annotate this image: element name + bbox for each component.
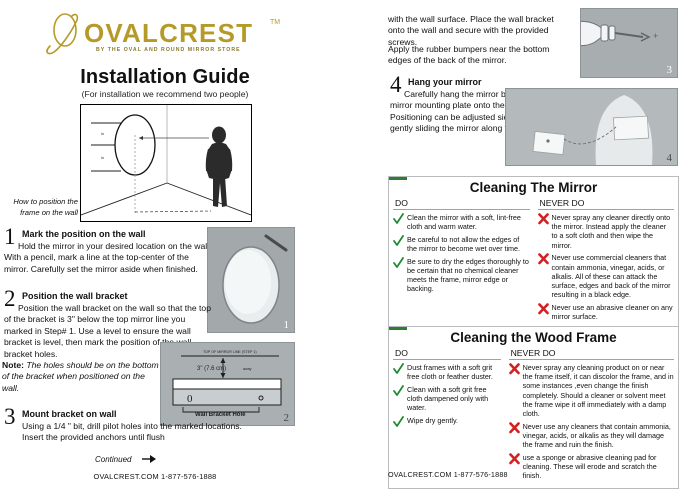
room-diagram-caption: How to position the frame on the wall — [6, 196, 78, 218]
cleaning-mirror-do-column: DO Clean the mirror with a soft, lint-fr… — [389, 198, 534, 329]
photo-3-number: 3 — [667, 64, 673, 76]
cleaning-mirror-columns: DO Clean the mirror with a soft, lint-fr… — [389, 198, 678, 329]
room-positioning-diagram: in in — [80, 104, 252, 222]
step-3-body: Using a 1/4 " bit, drill pilot holes int… — [22, 421, 244, 444]
hang-mirror-photo-svg — [506, 89, 677, 165]
cleaning-mirror-title: Cleaning The Mirror — [389, 177, 678, 198]
tip-text: Be sure to dry the edges thoroughly to b… — [407, 257, 530, 294]
cross-icon — [538, 213, 549, 225]
cross-icon — [538, 253, 549, 265]
arrow-right-icon — [142, 454, 156, 464]
page-title: Installation Guide — [0, 66, 330, 89]
tip-item: Never use any cleaners that contain ammo… — [509, 422, 674, 450]
tip-item: Be careful to not allow the edges of the… — [393, 235, 530, 253]
mirror-photo-svg — [208, 228, 294, 332]
installation-guide-page: OVALCREST TM BY THE OVAL AND ROUND MIRRO… — [0, 0, 679, 489]
panel-accent-bar — [389, 177, 407, 180]
check-icon — [393, 363, 404, 375]
tip-text: Wipe dry gently. — [407, 416, 458, 428]
bracket-top-label-text: TOP OF MIRROR LINE (STEP 1) — [203, 350, 257, 354]
photo-1-number: 1 — [284, 319, 290, 331]
caption-line-1: How to position the — [13, 197, 78, 206]
panel-accent-bar — [389, 327, 407, 330]
step-1-body: Hold the mirror in your desired location… — [4, 241, 212, 275]
step-1-number: 1 — [4, 226, 16, 248]
brand-logo: OVALCREST TM BY THE OVAL AND ROUND MIRRO… — [42, 8, 292, 60]
tip-item: Never spray any cleaner directly onto th… — [538, 213, 675, 250]
tip-text: Clean with a soft grit free cloth dampen… — [407, 385, 501, 413]
cross-icon — [538, 303, 549, 315]
svg-text:0: 0 — [187, 393, 193, 405]
step-2-heading: Position the wall bracket — [22, 290, 214, 302]
tip-text: Never spray any cleaning product on or n… — [523, 363, 674, 418]
tip-text: use a sponge or abrasive cleaning pad fo… — [523, 453, 674, 481]
tip-item: use a sponge or abrasive cleaning pad fo… — [509, 453, 674, 481]
cross-icon — [509, 363, 520, 375]
brand-name: OVALCREST — [84, 18, 253, 49]
right-paragraph-2: Apply the rubber bumpers near the bottom… — [388, 44, 568, 67]
svg-text:in: in — [101, 155, 104, 160]
cleaning-wood-do-header: DO — [393, 348, 501, 360]
photo-step-3: + 3 — [580, 8, 678, 78]
step-3-heading: Mount bracket on wall — [22, 408, 242, 420]
cleaning-wood-do-column: DO Dust frames with a soft grit free clo… — [389, 348, 505, 488]
drill-photo-svg: + — [581, 9, 677, 77]
photo-step-1: 1 — [207, 227, 295, 333]
step-1: 1 Mark the position on the wall Hold the… — [2, 228, 212, 275]
step-3-number: 3 — [4, 406, 16, 428]
step-2-note: Note: The holes should be on the bottom … — [2, 360, 162, 394]
tip-item: Never use commercial cleaners that conta… — [538, 253, 675, 299]
step-2-note-label: Note: — [2, 360, 24, 370]
tip-text: Be careful to not allow the edges of the… — [407, 235, 530, 253]
caption-line-2: frame on the wall — [20, 208, 78, 217]
tip-item: Clean the mirror with a soft, lint-free … — [393, 213, 530, 231]
tip-text: Never spray any cleaner directly onto th… — [552, 213, 675, 250]
person-silhouette — [206, 127, 233, 208]
photo-step-4: 4 — [505, 88, 678, 166]
bracket-measure-note-text: away — [243, 367, 252, 371]
check-icon — [393, 213, 404, 225]
svg-text:+: + — [653, 31, 658, 41]
tip-text: Never use commercial cleaners that conta… — [552, 253, 675, 299]
step-4-number: 4 — [390, 74, 402, 96]
brand-trademark: TM — [270, 19, 280, 26]
brand-tagline: BY THE OVAL AND ROUND MIRROR STORE — [96, 47, 241, 53]
step-1-heading: Mark the position on the wall — [22, 228, 212, 240]
cleaning-wood-never-header: NEVER DO — [509, 348, 674, 360]
footer-left: OVALCREST.COM 1-877-576-1888 — [55, 472, 255, 481]
photo-2-number: 2 — [284, 412, 290, 424]
bracket-measure-text: 3" (7.6 cm) — [197, 366, 226, 372]
cleaning-wood-frame-panel: Cleaning the Wood Frame DO Dust frames w… — [388, 326, 679, 489]
photo-4-number: 4 — [667, 152, 673, 164]
tip-text: Dust frames with a soft grit free cloth … — [407, 363, 501, 381]
page-subtitle: (For installation we recommend two peopl… — [0, 89, 330, 99]
step-2-number: 2 — [4, 288, 16, 310]
svg-text:in: in — [101, 131, 104, 136]
cleaning-mirror-never-header: NEVER DO — [538, 198, 675, 210]
cleaning-wood-columns: DO Dust frames with a soft grit free clo… — [389, 348, 678, 488]
continued-label: Continued — [95, 455, 131, 464]
footer-right: OVALCREST.COM 1-877-576-1888 — [388, 470, 508, 479]
room-diagram-svg: in in — [81, 105, 251, 221]
cleaning-mirror-never-column: NEVER DO Never spray any cleaner directl… — [534, 198, 679, 329]
tip-item: Never spray any cleaning product on or n… — [509, 363, 674, 418]
check-icon — [393, 257, 404, 269]
check-icon — [393, 416, 404, 428]
cleaning-mirror-panel: Cleaning The Mirror DO Clean the mirror … — [388, 176, 679, 330]
tip-item: Be sure to dry the edges thoroughly to b… — [393, 257, 530, 294]
right-column: with the wall surface. Place the wall br… — [388, 0, 679, 489]
left-column: OVALCREST TM BY THE OVAL AND ROUND MIRRO… — [0, 0, 378, 489]
tip-text: Clean the mirror with a soft, lint-free … — [407, 213, 530, 231]
tip-item: Wipe dry gently. — [393, 416, 501, 428]
tip-text: Never use an abrasive cleaner on any mir… — [552, 303, 675, 321]
step-3: 3 Mount bracket on wall Using a 1/4 " bi… — [2, 408, 242, 444]
tip-item: Never use an abrasive cleaner on any mir… — [538, 303, 675, 321]
cleaning-wood-title: Cleaning the Wood Frame — [389, 327, 678, 348]
tip-text: Never use any cleaners that contain ammo… — [523, 422, 674, 450]
cleaning-mirror-do-header: DO — [393, 198, 530, 210]
tip-item: Clean with a soft grit free cloth dampen… — [393, 385, 501, 413]
step-2-note-text: The holes should be on the bottom of the… — [2, 360, 159, 393]
check-icon — [393, 385, 404, 397]
cleaning-wood-never-column: NEVER DO Never spray any cleaning produc… — [505, 348, 678, 488]
oval-swash-icon — [42, 10, 88, 56]
step-4-heading: Hang your mirror — [408, 76, 573, 88]
tip-item: Dust frames with a soft grit free cloth … — [393, 363, 501, 381]
cross-icon — [509, 422, 520, 434]
check-icon — [393, 235, 404, 247]
cross-icon — [509, 453, 520, 465]
